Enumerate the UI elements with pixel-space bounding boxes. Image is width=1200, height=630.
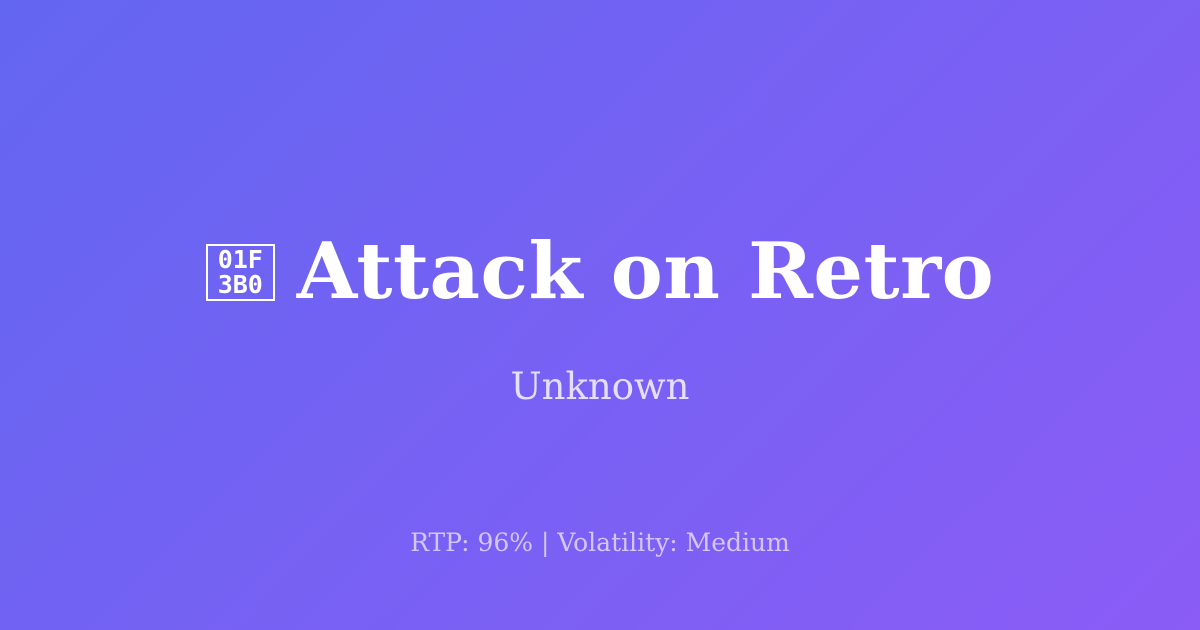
game-stats: RTP: 96% | Volatility: Medium [0,528,1200,558]
slot-machine-emoji-icon: 01F 3B0 [206,244,275,301]
tofu-codepoint-top: 01F [218,247,263,272]
tofu-codepoint-bottom: 3B0 [218,272,263,297]
game-title: Attack on Retro [297,231,994,313]
title-row: 01F 3B0 Attack on Retro [0,231,1200,313]
provider-label: Unknown [0,365,1200,409]
game-preview-card: 01F 3B0 Attack on Retro Unknown RTP: 96%… [0,0,1200,630]
